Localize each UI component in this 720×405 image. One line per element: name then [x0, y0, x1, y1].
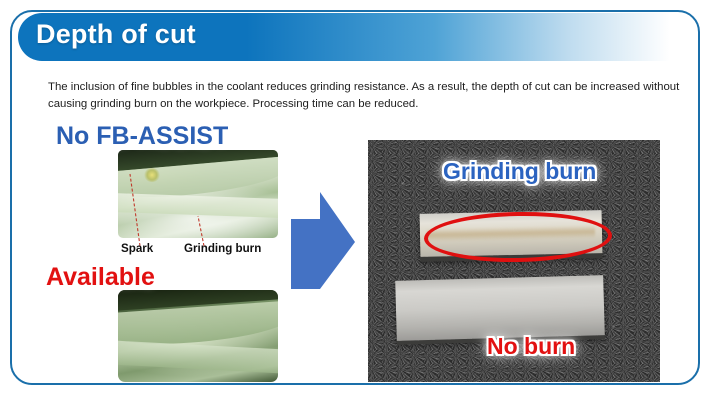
label-available: Available [46, 263, 155, 292]
grinding-fb-assist-photo [118, 290, 278, 382]
right-arrow-icon [291, 192, 355, 289]
label-spark: Spark [121, 242, 153, 255]
photo-band-workpiece [118, 340, 278, 374]
leader-lines [118, 168, 288, 250]
label-no-fb-assist: No FB-ASSIST [56, 122, 228, 151]
slide-header-bar: Depth of cut [18, 13, 690, 61]
description-paragraph: The inclusion of fine bubbles in the coo… [48, 79, 696, 112]
label-no-burn: No burn [487, 333, 575, 360]
lower-workpiece-no-burn [395, 275, 605, 341]
label-grinding-burn-left: Grinding burn [184, 242, 261, 255]
page-title: Depth of cut [36, 19, 196, 50]
label-grinding-burn-right: Grinding burn [443, 158, 596, 185]
